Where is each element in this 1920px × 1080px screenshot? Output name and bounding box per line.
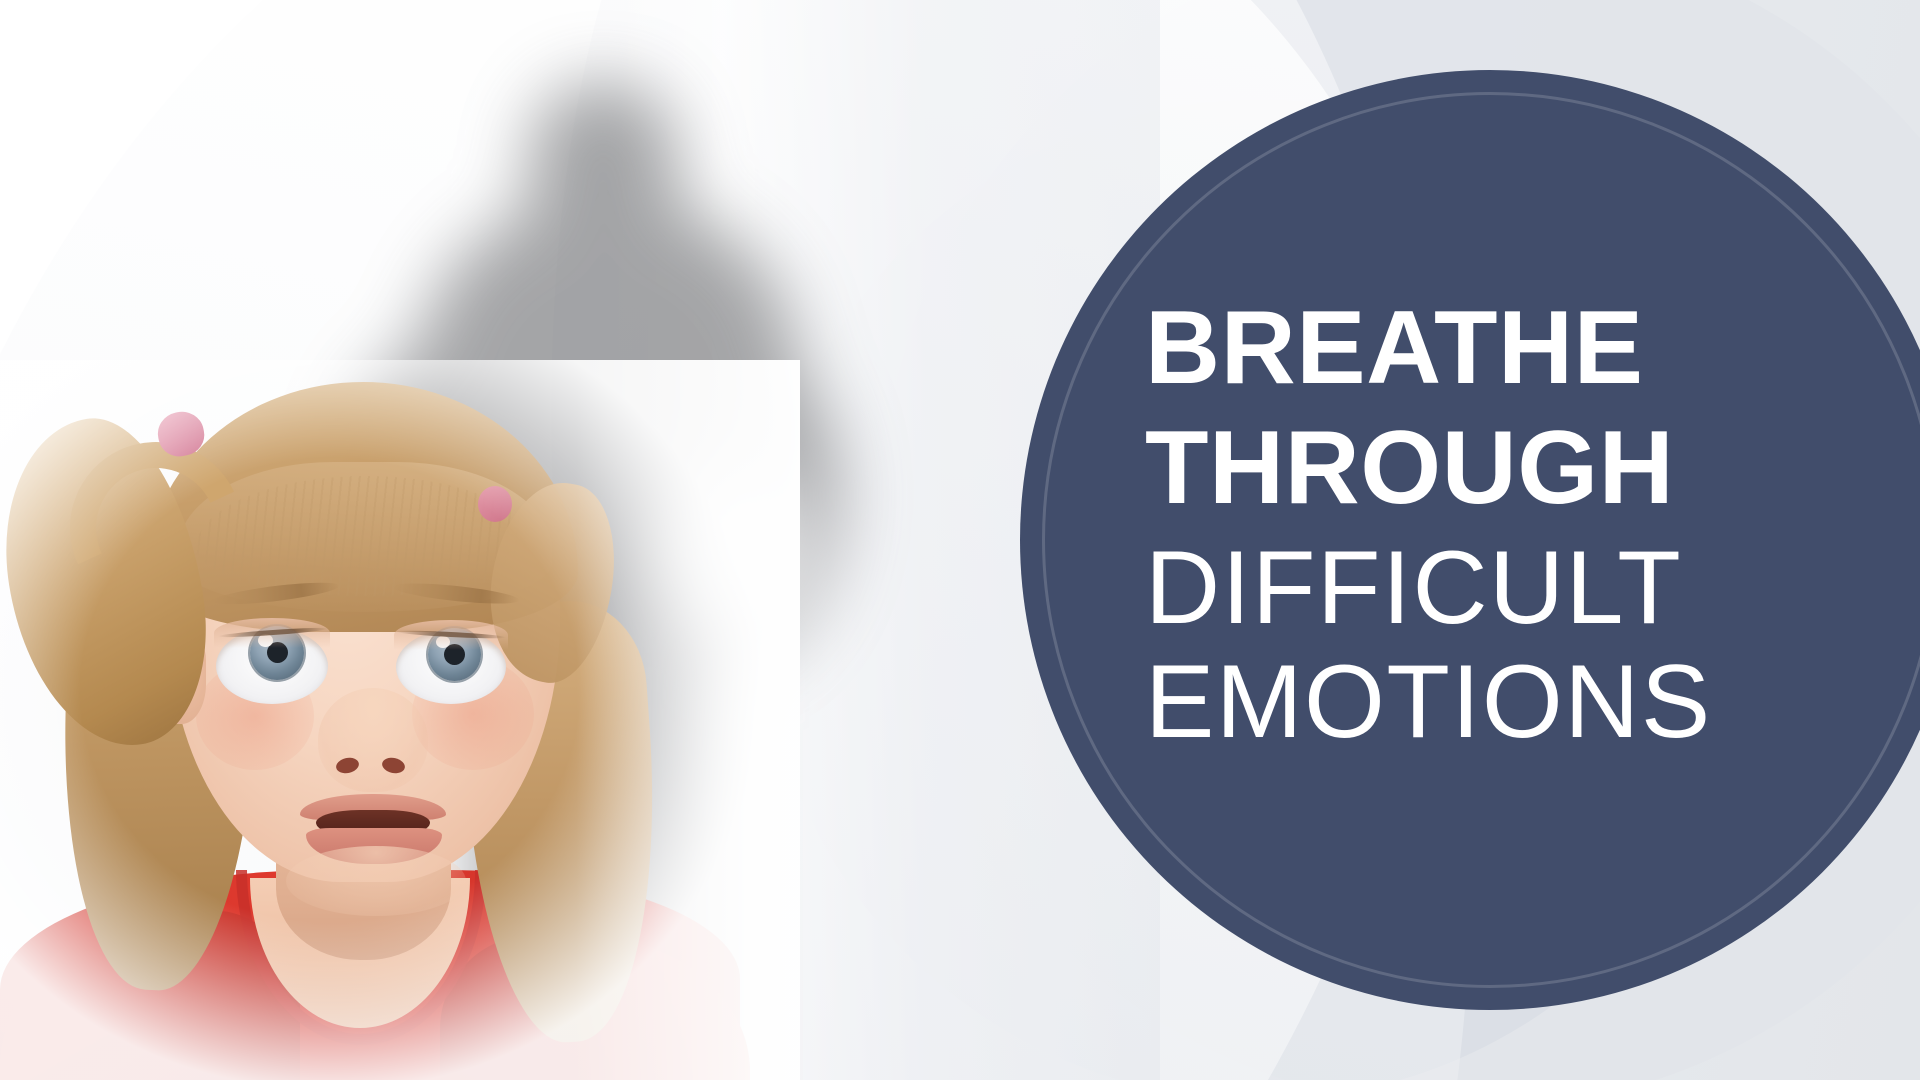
breathe-through-difficult-emotions-banner: BREATHE THROUGH DIFFICULT EMOTIONS <box>0 0 1920 1080</box>
right-eye <box>396 630 506 704</box>
left-eyelid <box>214 618 330 648</box>
left-eye <box>216 628 328 704</box>
hair-fringe <box>178 462 552 612</box>
headline-line-2: THROUGH <box>1145 416 1920 520</box>
headline-line-4: EMOTIONS <box>1145 650 1920 754</box>
red-shirt-left-shoulder <box>0 910 300 1080</box>
hair-crown <box>148 382 578 632</box>
right-cheek-blush <box>412 658 534 770</box>
right-pupil <box>444 644 465 665</box>
pigtail-right <box>476 473 629 691</box>
child-portrait <box>0 390 760 1080</box>
shadow-torso <box>418 200 798 630</box>
left-eyebrow <box>212 578 341 608</box>
hair-strand-right <box>455 596 671 1048</box>
right-eyelash <box>396 629 506 640</box>
lower-lip <box>306 828 442 864</box>
shadow-right-arm <box>600 330 840 670</box>
hair-strand-left <box>51 555 263 994</box>
shirt-collar-ribbing <box>236 870 486 1045</box>
shadow-legs <box>478 580 728 1080</box>
shadow-head <box>528 82 678 252</box>
pigtail-left-loop <box>46 418 266 638</box>
child-face <box>168 412 560 882</box>
shirt-collar-opening <box>250 878 470 1028</box>
upper-lip <box>300 794 446 820</box>
left-eye-glint <box>258 634 273 647</box>
right-iris <box>428 628 481 681</box>
headline: BREATHE THROUGH DIFFICULT EMOTIONS <box>1145 296 1920 764</box>
red-shirt-body <box>0 870 740 1080</box>
shadow-right-arm-gap <box>672 460 802 635</box>
left-cheek-blush <box>196 662 314 770</box>
child-photo-vignette <box>0 360 800 1080</box>
chin-highlight <box>286 846 466 916</box>
right-nostril <box>381 756 407 775</box>
left-iris <box>250 626 304 680</box>
left-pupil <box>267 642 288 663</box>
left-eyelash <box>218 626 328 639</box>
hair-wisps <box>196 476 536 596</box>
child-neck <box>276 810 451 960</box>
red-shirt-right-shoulder <box>440 935 750 1080</box>
left-ear <box>152 636 206 724</box>
right-eyelid <box>394 620 508 650</box>
headline-line-3: DIFFICULT <box>1145 536 1920 640</box>
right-eye-glint <box>436 636 450 648</box>
headline-line-1: BREATHE <box>1145 296 1920 400</box>
shadow-left-arm <box>340 340 560 670</box>
looming-shadow-figure <box>300 60 920 1080</box>
hair-tie-right-icon <box>478 486 512 522</box>
shadow-left-arm-gap <box>398 480 526 640</box>
pigtail-left <box>0 405 225 761</box>
hair-tie-left-icon <box>154 408 208 461</box>
child-nose <box>318 688 428 792</box>
right-eyebrow <box>392 579 521 607</box>
left-nostril <box>335 756 361 775</box>
open-mouth <box>316 810 430 838</box>
